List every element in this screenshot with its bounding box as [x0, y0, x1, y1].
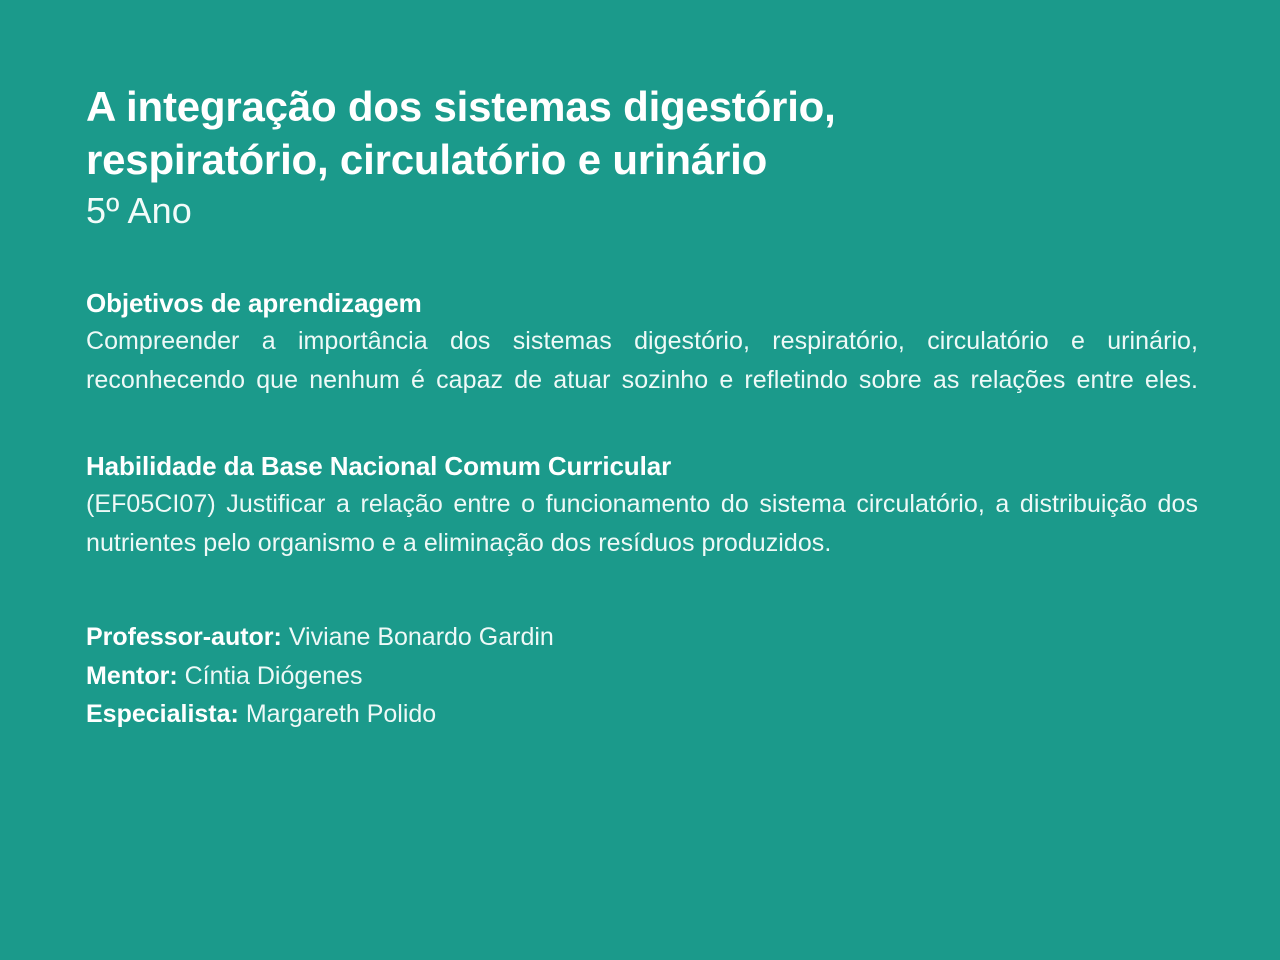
section-objetivos: Objetivos de aprendizagem Compreender a …: [86, 284, 1198, 399]
credit-line-professor-autor: Professor-autor: Viviane Bonardo Gardin: [86, 618, 1198, 657]
section-objetivos-body: Compreender a importância dos sistemas d…: [86, 322, 1198, 399]
section-objetivos-heading: Objetivos de aprendizagem: [86, 284, 1198, 322]
credit-label-professor-autor: Professor-autor:: [86, 623, 282, 651]
slide-canvas: A integração dos sistemas digestório, re…: [0, 0, 1280, 960]
credit-label-especialista: Especialista:: [86, 700, 239, 728]
slide-subtitle: 5º Ano: [86, 186, 1198, 236]
credit-value-professor-autor: Viviane Bonardo Gardin: [289, 623, 554, 651]
credits-block: Professor-autor: Viviane Bonardo Gardin …: [86, 618, 1198, 734]
section-habilidade-body: (EF05CI07) Justificar a relação entre o …: [86, 485, 1198, 562]
credit-label-mentor: Mentor:: [86, 662, 178, 690]
credit-line-mentor: Mentor: Cíntia Diógenes: [86, 657, 1198, 696]
credit-value-mentor: Cíntia Diógenes: [185, 662, 363, 690]
slide-content: A integração dos sistemas digestório, re…: [86, 80, 1198, 734]
credit-value-especialista: Margareth Polido: [246, 700, 436, 728]
credit-line-especialista: Especialista: Margareth Polido: [86, 695, 1198, 734]
section-habilidade: Habilidade da Base Nacional Comum Curric…: [86, 447, 1198, 562]
slide-title: A integração dos sistemas digestório, re…: [86, 80, 1046, 186]
section-habilidade-heading: Habilidade da Base Nacional Comum Curric…: [86, 447, 1198, 485]
